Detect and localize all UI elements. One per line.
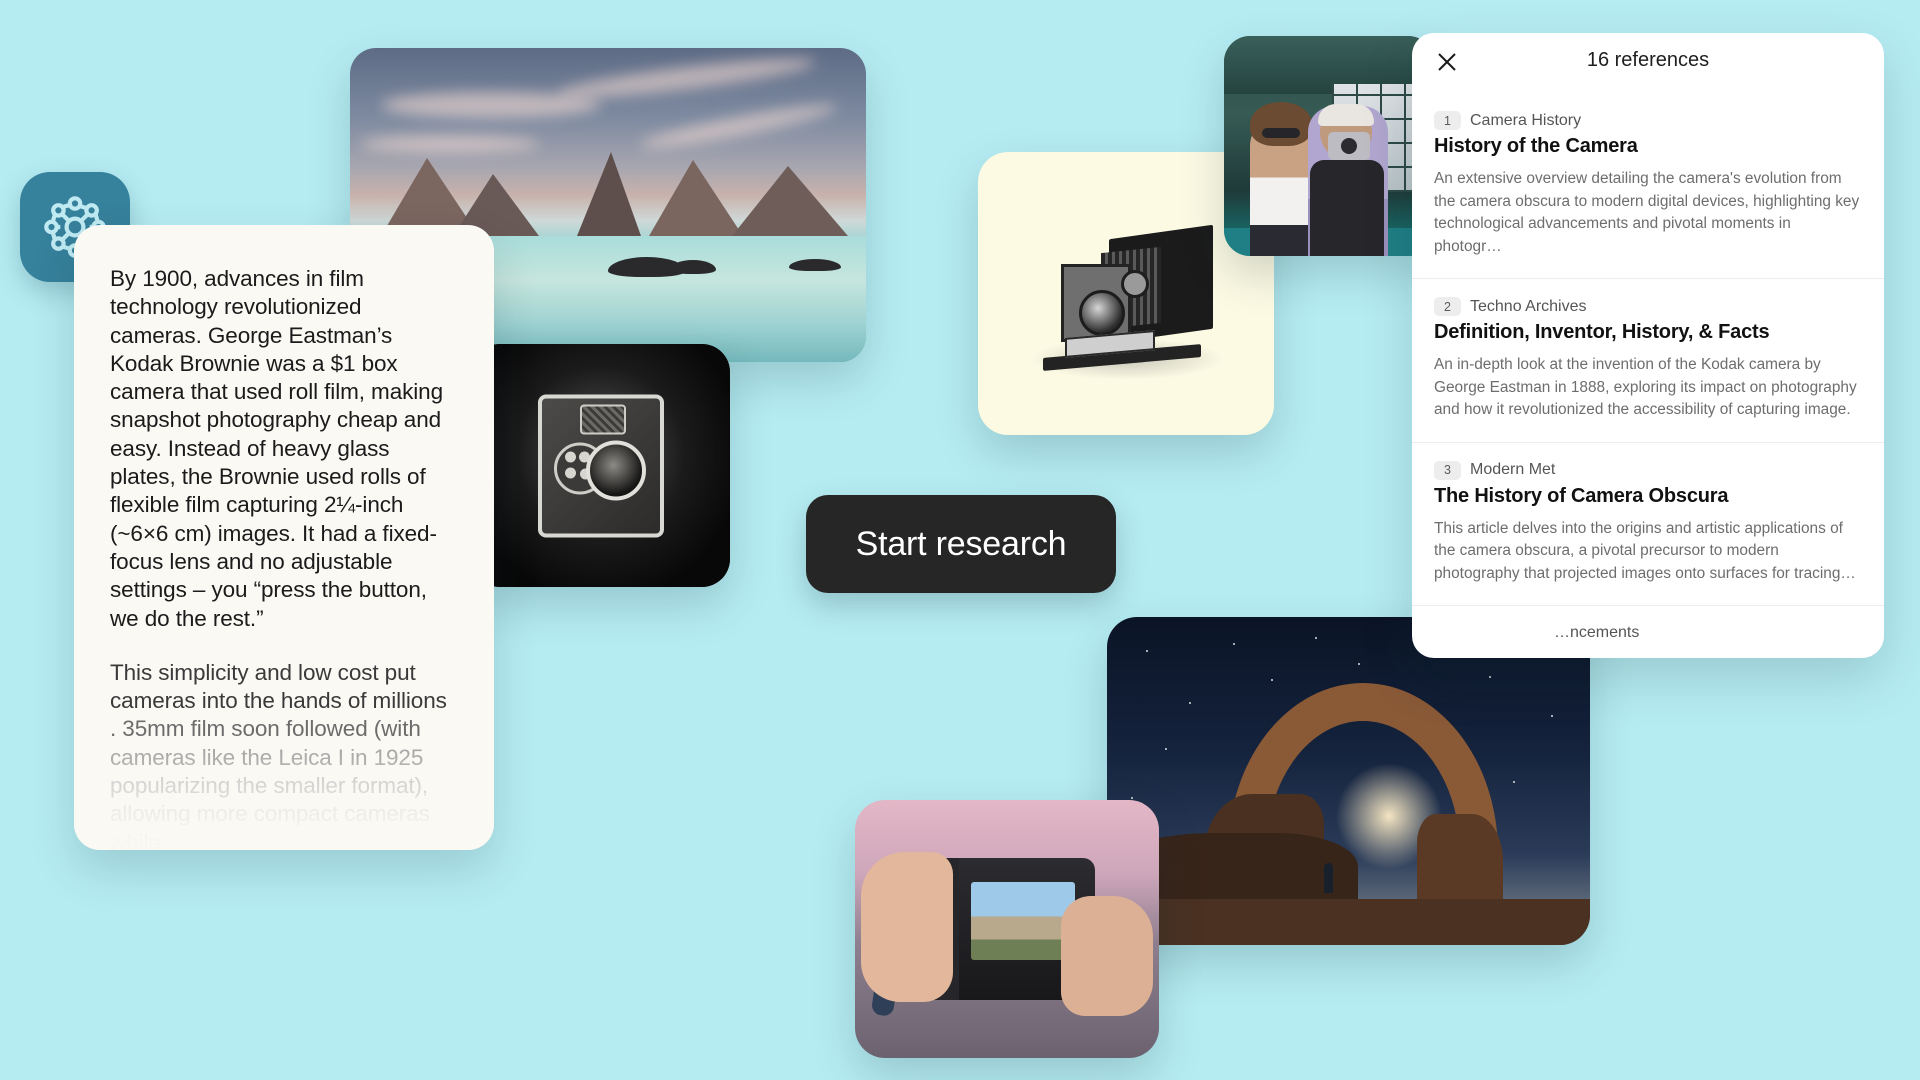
article-p2-line-4: cameras like the Leica I in 1925: [110, 745, 423, 770]
reference-headline[interactable]: The History of Camera Obscura: [1434, 485, 1862, 508]
canvas: By 1900, advances in film technology rev…: [0, 0, 1920, 1080]
article-text-card[interactable]: By 1900, advances in film technology rev…: [74, 225, 494, 850]
reference-source: Techno Archives: [1470, 298, 1587, 316]
reference-source-row: 2 Techno Archives: [1434, 297, 1862, 316]
reference-source-row: …ncements: [1434, 624, 1862, 642]
article-p2-line-6: allowing more compact cameras while: [110, 801, 430, 850]
reference-item[interactable]: 2 Techno Archives Definition, Inventor, …: [1412, 278, 1884, 442]
reference-item[interactable]: 3 Modern Met The History of Camera Obscu…: [1412, 442, 1884, 606]
article-paragraph-2: This simplicity and low cost put cameras…: [110, 659, 458, 850]
couple-image: [1224, 36, 1434, 256]
reference-item[interactable]: 1 Camera History History of the Camera A…: [1412, 93, 1884, 278]
references-title: 16 references: [1412, 49, 1884, 72]
reference-number: 3: [1434, 461, 1461, 480]
photo-card-hands-camera[interactable]: [855, 800, 1159, 1058]
reference-number: 2: [1434, 297, 1461, 316]
article-p2-line-5: popularizing the smaller format),: [110, 773, 428, 798]
start-research-button[interactable]: Start research: [806, 495, 1116, 593]
references-panel: 16 references 1 Camera History History o…: [1412, 33, 1884, 658]
reference-source: Camera History: [1470, 112, 1581, 130]
reference-source: Modern Met: [1470, 461, 1555, 479]
references-header: 16 references: [1412, 33, 1884, 93]
article-paragraph-1: By 1900, advances in film technology rev…: [110, 265, 458, 633]
references-list[interactable]: 1 Camera History History of the Camera A…: [1412, 93, 1884, 658]
reference-item-partial[interactable]: …ncements: [1412, 605, 1884, 658]
photo-card-arch-night[interactable]: [1107, 617, 1590, 945]
reference-headline[interactable]: History of the Camera: [1434, 135, 1862, 158]
reference-source-row: 3 Modern Met: [1434, 461, 1862, 480]
article-p2-line-1: This simplicity and low cost put: [110, 660, 416, 685]
arch-night-image: [1107, 617, 1590, 945]
reference-description: An in-depth look at the invention of the…: [1434, 354, 1862, 422]
photo-card-bw-camera[interactable]: [472, 344, 730, 587]
bw-camera-body: [538, 394, 664, 537]
reference-description: An extensive overview detailing the came…: [1434, 168, 1862, 258]
article-body: By 1900, advances in film technology rev…: [74, 225, 494, 850]
reference-source: …ncements: [1554, 624, 1639, 642]
reference-description: This article delves into the origins and…: [1434, 518, 1862, 586]
reference-headline[interactable]: Definition, Inventor, History, & Facts: [1434, 321, 1862, 344]
article-p2-line-3: . 35mm film soon followed (with: [110, 716, 421, 741]
article-p2-line-2: cameras into the hands of millions: [110, 688, 447, 713]
reference-source-row: 1 Camera History: [1434, 111, 1862, 130]
vintage-camera-illustration: [1035, 224, 1217, 374]
hands-camera-image: [855, 800, 1159, 1058]
reference-number: 1: [1434, 111, 1461, 130]
photo-card-couple[interactable]: [1224, 36, 1434, 256]
